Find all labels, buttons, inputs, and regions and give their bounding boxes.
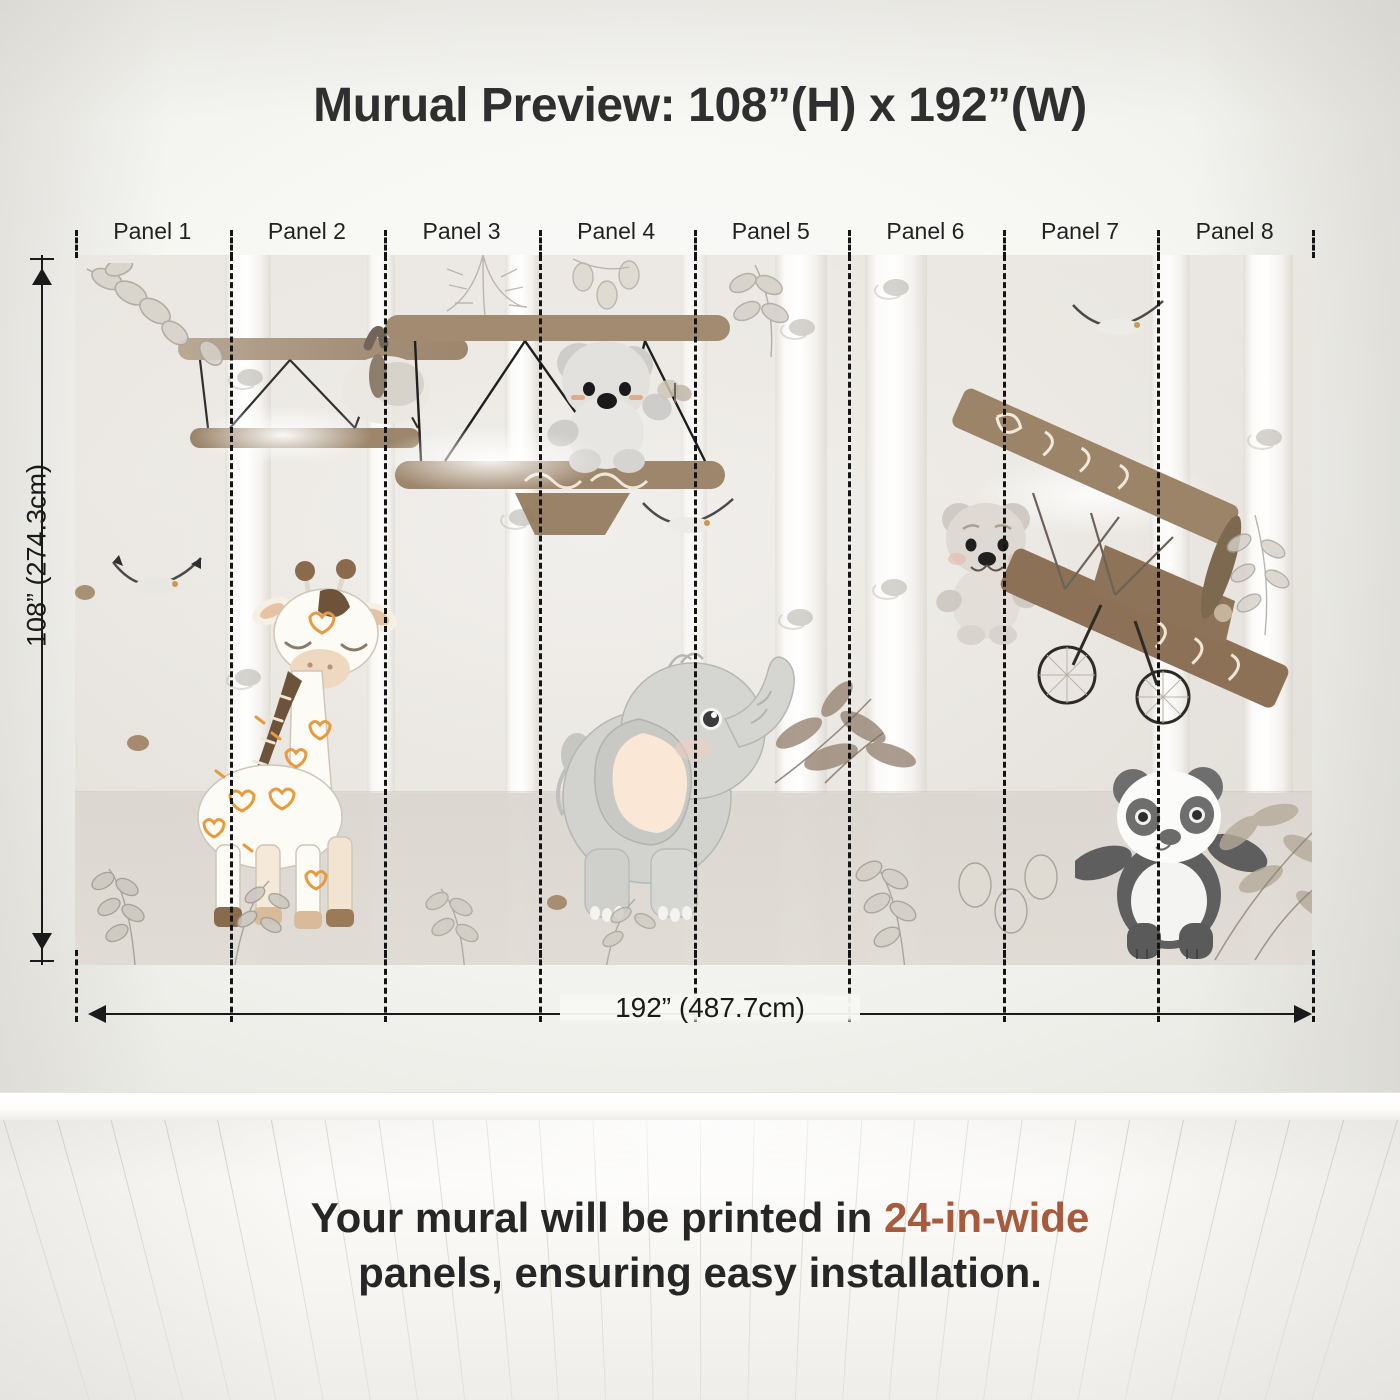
seed-pod-2 bbox=[75, 585, 95, 600]
panel-label-6: Panel 6 bbox=[848, 214, 1003, 248]
bird-left bbox=[103, 550, 213, 610]
height-arrow-up bbox=[32, 268, 52, 285]
footer-note: Your mural will be printed in 24-in-wide… bbox=[0, 1190, 1400, 1301]
foliage-bottom-right bbox=[835, 815, 1135, 965]
edge-tick-top-3 bbox=[539, 230, 542, 258]
panel-label-4: Panel 4 bbox=[539, 214, 694, 248]
foliage-top-right bbox=[725, 265, 885, 395]
edge-tick-right bbox=[1312, 950, 1315, 1022]
panel-divider-4 bbox=[694, 255, 697, 965]
page-title: Murual Preview: 108”(H) x 192”(W) bbox=[0, 78, 1400, 133]
edge-tick-top-left bbox=[75, 230, 78, 258]
panel-label-1: Panel 1 bbox=[75, 214, 230, 248]
width-dimension-line-right bbox=[845, 1013, 1295, 1015]
height-tick-top bbox=[30, 258, 54, 260]
panel-label-5: Panel 5 bbox=[694, 214, 849, 248]
edge-tick-top-7 bbox=[1157, 230, 1160, 258]
edge-tick-left bbox=[75, 950, 78, 1022]
cloud-1 bbox=[193, 405, 373, 465]
panel-divider-7 bbox=[1157, 255, 1160, 965]
width-dimension-label: 192” (487.7cm) bbox=[560, 992, 860, 1024]
footer-line-1-text: Your mural will be printed in bbox=[311, 1194, 884, 1241]
footer-line-2: panels, ensuring easy installation. bbox=[0, 1245, 1400, 1300]
foliage-top-left bbox=[83, 263, 293, 413]
foliage-bottom-left bbox=[75, 815, 375, 965]
edge-tick-top-6 bbox=[1003, 230, 1006, 258]
mural-artwork bbox=[75, 255, 1312, 965]
bird-mid bbox=[635, 493, 745, 547]
edge-tick-top-1 bbox=[230, 230, 233, 258]
panel-divider-1 bbox=[230, 255, 233, 965]
edge-tick-top-2 bbox=[384, 230, 387, 258]
panel-divider-3 bbox=[539, 255, 542, 965]
height-dimension-label: 108” (274.3cm) bbox=[22, 396, 53, 716]
foliage-leaves-brown bbox=[765, 673, 945, 823]
panel-divider-5 bbox=[848, 255, 851, 965]
panel-label-8: Panel 8 bbox=[1157, 214, 1312, 248]
baseboard bbox=[0, 1092, 1400, 1122]
height-arrow-down bbox=[32, 933, 52, 950]
butterfly bbox=[655, 375, 695, 411]
panel-label-3: Panel 3 bbox=[384, 214, 539, 248]
width-arrow-right bbox=[1294, 1005, 1312, 1023]
foliage-right-top bbox=[1215, 515, 1312, 655]
panel-divider-6 bbox=[1003, 255, 1006, 965]
seed-pod-1 bbox=[127, 735, 149, 751]
edge-tick-top-right bbox=[1312, 230, 1315, 258]
foliage-far-right bbox=[1195, 775, 1312, 965]
footer-line-1: Your mural will be printed in 24-in-wide bbox=[0, 1190, 1400, 1245]
cloud-2 bbox=[375, 425, 605, 495]
footer-accent-text: 24-in-wide bbox=[884, 1194, 1089, 1241]
panel-divider-2 bbox=[384, 255, 387, 965]
mural-preview-page: Murual Preview: 108”(H) x 192”(W) Panel … bbox=[0, 0, 1400, 1400]
edge-tick-top-4 bbox=[694, 230, 697, 258]
panel-label-7: Panel 7 bbox=[1003, 214, 1158, 248]
edge-tick-top-5 bbox=[848, 230, 851, 258]
seed-pod-3 bbox=[547, 895, 567, 910]
width-arrow-left bbox=[88, 1005, 106, 1023]
panel-label-2: Panel 2 bbox=[230, 214, 385, 248]
height-tick-bottom bbox=[30, 960, 54, 962]
